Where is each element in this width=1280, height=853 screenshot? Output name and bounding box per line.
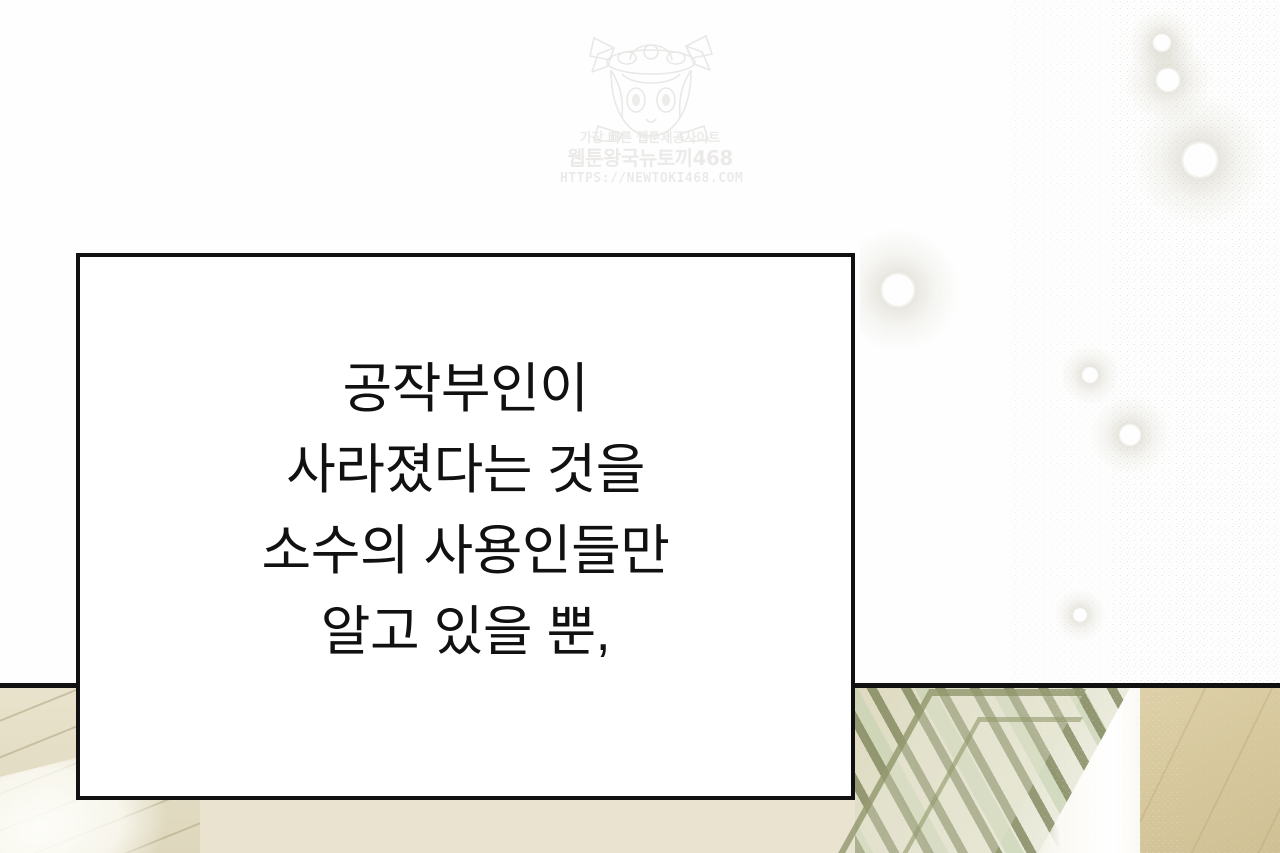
bokeh-halo-group: [860, 9, 1266, 641]
stone-floor-far-right: [1140, 683, 1280, 853]
bokeh-core-group: [885, 36, 1214, 620]
narration-panel: 공작부인이 사라졌다는 것을 소수의 사용인들만 알고 있을 뿐,: [76, 253, 855, 800]
webtoon-page: 공작부인이 사라졌다는 것을 소수의 사용인들만 알고 있을 뿐,: [0, 0, 1280, 853]
narration-text: 공작부인이 사라졌다는 것을 소수의 사용인들만 알고 있을 뿐,: [80, 349, 851, 673]
dust-stipple-field: [860, 0, 1280, 683]
